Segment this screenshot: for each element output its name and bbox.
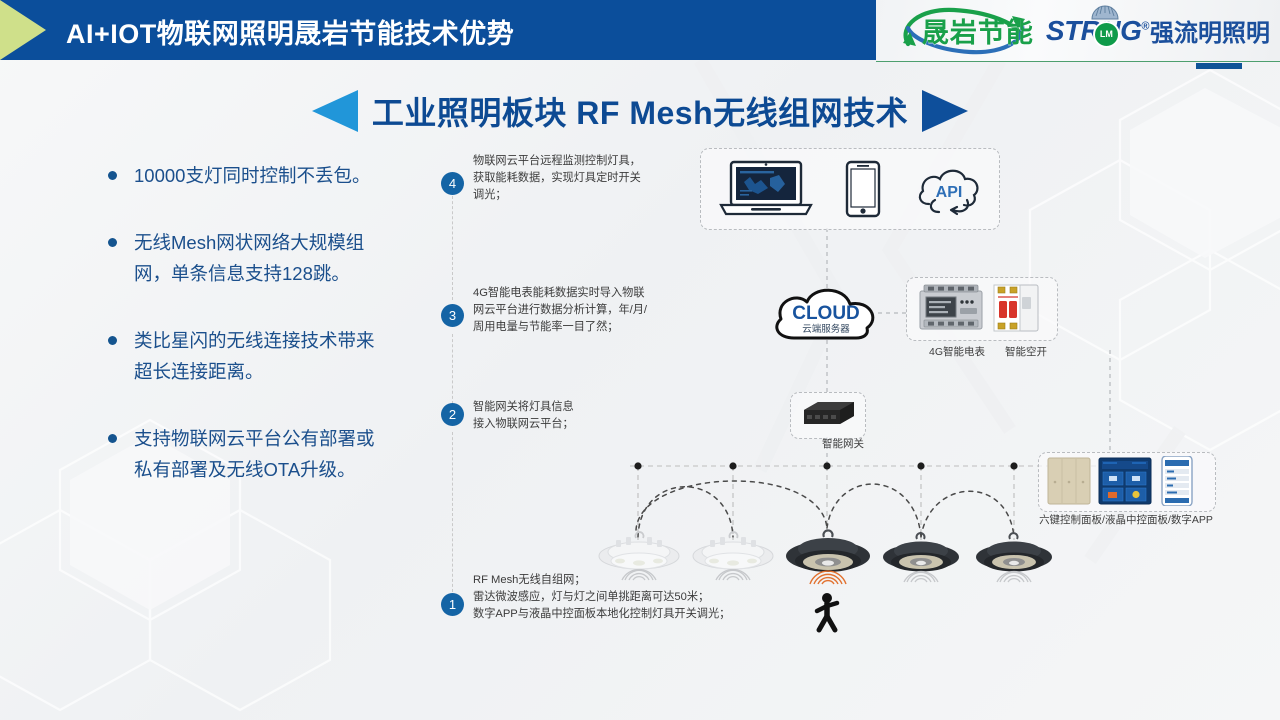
cloud-label-en: CLOUD [792,303,860,324]
meter-devices-icon [918,283,1044,335]
smartphone-icon [845,160,881,218]
signal-waves-icon [808,562,848,586]
api-label: API [936,184,963,201]
control-devices-icon [1046,456,1206,506]
cloud-label-cn: 云端服务器 [802,323,850,335]
signal-waves-icon [620,560,658,582]
walking-person-icon [810,592,844,634]
signal-waves-icon [902,562,940,584]
signal-waves-icon [714,560,752,582]
gateway-icon [796,398,858,432]
meter-caption-2: 智能空开 [990,344,1062,359]
cloud-server-icon: CLOUD 云端服务器 [768,283,888,345]
laptop-icon [718,160,814,218]
slide-canvas: AI+IOT物联网照明晟岩节能技术优势 晟岩节能 STRLMNG® 强流明照明 [0,0,1280,720]
gateway-caption: 智能网关 [822,436,898,451]
meter-caption-1: 4G智能电表 [918,344,996,359]
api-cloud-icon: API [915,160,983,218]
diagram-connectors [0,0,1280,720]
signal-waves-icon [995,562,1033,584]
control-panel-caption: 六键控制面板/液晶中控面板/数字APP [1024,512,1228,527]
logo-chinese-name: 晟岩节能 [922,11,1034,50]
